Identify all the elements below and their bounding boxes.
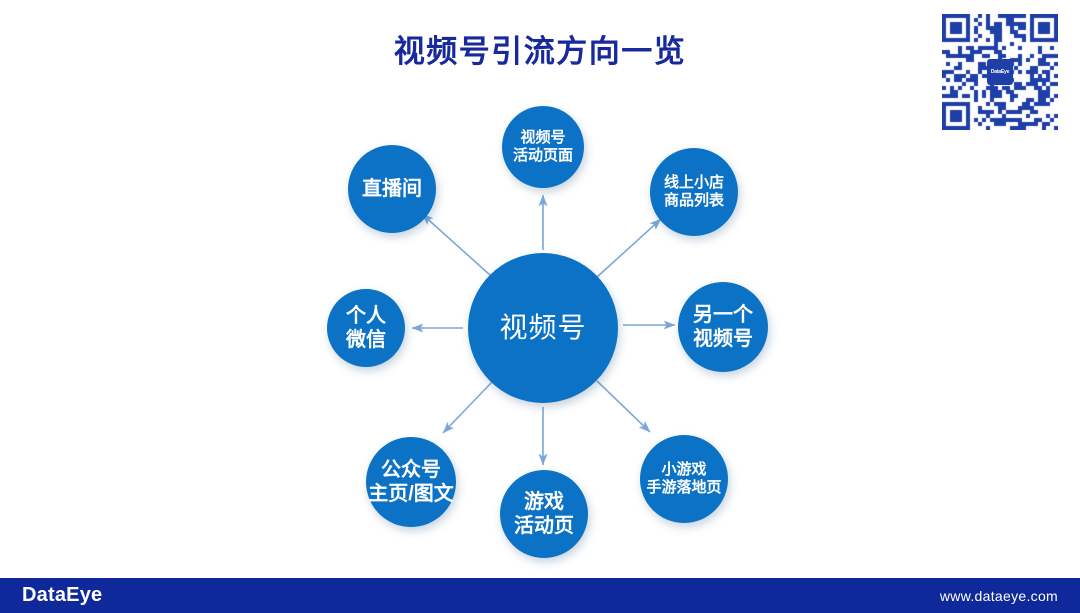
node-topleft-line-0: 直播间 — [362, 177, 422, 201]
node-center-line-0: 视频号 — [499, 311, 586, 345]
node-topright-line-1: 商品列表 — [664, 192, 724, 210]
node-left-line-0: 个人 — [346, 304, 386, 328]
node-right-line-0: 另一个 — [693, 303, 753, 327]
node-left-line-1: 微信 — [346, 328, 386, 352]
node-top-line-0: 视频号 — [520, 129, 565, 147]
node-top-line-1: 活动页面 — [513, 147, 573, 165]
node-video-activity-page[interactable]: 视频号 活动页面 — [502, 106, 584, 188]
node-bottomright-line-1: 手游落地页 — [646, 479, 721, 497]
node-online-shop-product-list[interactable]: 线上小店 商品列表 — [650, 148, 738, 236]
node-bottomright-line-0: 小游戏 — [661, 461, 706, 479]
node-bottom-line-0: 游戏 — [524, 490, 564, 514]
node-bottomleft-line-1: 主页/图文 — [368, 482, 454, 506]
node-center[interactable]: 视频号 — [468, 253, 618, 403]
node-live-room[interactable]: 直播间 — [348, 145, 436, 233]
node-right-line-1: 视频号 — [693, 327, 753, 351]
node-personal-wechat[interactable]: 个人 微信 — [327, 289, 405, 367]
arrow-to-bottomright — [597, 381, 650, 432]
node-game-activity-page[interactable]: 游戏 活动页 — [500, 470, 588, 558]
footer-logo: DataEye — [22, 584, 102, 607]
node-mini-game-landing-page[interactable]: 小游戏 手游落地页 — [640, 435, 728, 523]
arrow-to-bottomleft — [443, 382, 492, 433]
node-another-video-account[interactable]: 另一个 视频号 — [678, 282, 768, 372]
diagram-canvas: 视频号 视频号 活动页面 直播间 线上小店 商品列表 个人 微信 另一个 视频号… — [0, 0, 1080, 578]
arrow-to-topright — [597, 219, 661, 277]
arrow-to-topleft — [422, 214, 490, 275]
footer-website-url[interactable]: www.dataeye.com — [940, 588, 1058, 604]
node-topright-line-0: 线上小店 — [664, 174, 724, 192]
footer-bar: DataEye www.dataeye.com — [0, 578, 1080, 613]
node-official-account-homepage[interactable]: 公众号 主页/图文 — [366, 437, 456, 527]
node-bottomleft-line-0: 公众号 — [381, 458, 441, 482]
node-bottom-line-1: 活动页 — [514, 514, 574, 538]
